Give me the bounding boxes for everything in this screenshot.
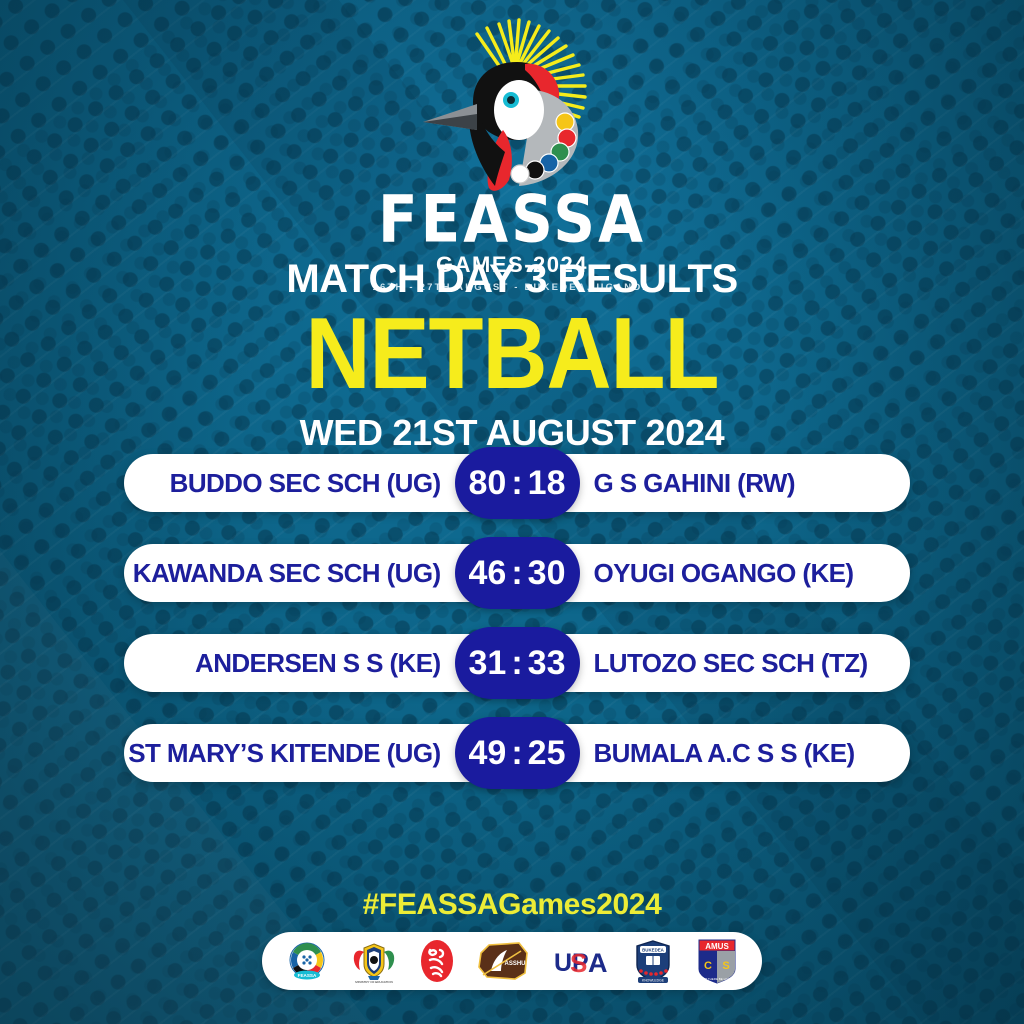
svg-text:S: S	[570, 948, 587, 978]
headings-block: MATCH DAY 3 RESULTS NETBALL WED 21ST AUG…	[0, 258, 1024, 454]
sport-title: NETBALL	[0, 304, 1024, 405]
score-badge: 46 : 30	[455, 537, 580, 609]
score-badge: 49 : 25	[455, 717, 580, 789]
home-score: 80	[469, 464, 507, 503]
sponsor-logo-bar: FEASSA MINISTRY OF EDUCATION	[262, 932, 762, 990]
svg-text:KNOWLEDGE: KNOWLEDGE	[642, 978, 665, 982]
away-score: 18	[528, 464, 566, 503]
score-badge: 80 : 18	[455, 447, 580, 519]
match-row: ANDERSEN S S (KE) 31 : 33 LUTOZO SEC SCH…	[124, 634, 910, 692]
uganda-moes-logo: MINISTRY OF EDUCATION	[348, 938, 400, 984]
home-team-name: ANDERSEN S S (KE)	[124, 648, 455, 679]
score-badge: 31 : 33	[455, 627, 580, 699]
away-score: 33	[528, 644, 566, 683]
feassa-logo-block: FEASSA GAMES-2024 16TH - 27TH AUGUST - B…	[0, 18, 1024, 293]
score-separator: :	[506, 734, 527, 773]
match-results-list: BUDDO SEC SCH (UG) 80 : 18 G S GAHINI (R…	[124, 454, 910, 814]
home-team-name: ST MARY’S KITENDE (UG)	[124, 738, 455, 769]
svg-text:MINISTRY OF EDUCATION: MINISTRY OF EDUCATION	[355, 980, 393, 984]
bukedea-logo: BUKEDEA KNOWLEDGE	[630, 937, 676, 985]
svg-text:C: C	[704, 960, 712, 972]
svg-text:A: A	[588, 948, 608, 978]
score-separator: :	[506, 554, 527, 593]
home-score: 49	[469, 734, 507, 773]
svg-text:FEASSA: FEASSA	[298, 973, 317, 978]
away-score: 25	[528, 734, 566, 773]
amus-logo: AMUS C S LET THERE BE LIGHT	[695, 937, 739, 985]
home-score: 46	[469, 554, 507, 593]
poster-content: FEASSA GAMES-2024 16TH - 27TH AUGUST - B…	[0, 0, 1024, 1024]
poster-canvas: FEASSA GAMES-2024 16TH - 27TH AUGUST - B…	[0, 0, 1024, 1024]
feassa-wordmark: FEASSA	[378, 189, 646, 251]
score-separator: :	[506, 464, 527, 503]
svg-text:AMUS: AMUS	[705, 942, 729, 951]
away-score: 30	[528, 554, 566, 593]
away-team-name: BUMALA A.C S S (KE)	[580, 738, 911, 769]
away-team-name: OYUGI OGANGO (KE)	[580, 558, 911, 589]
feassa-logo: FEASSA	[285, 939, 329, 983]
event-hashtag: #FEASSAGames2024	[0, 888, 1024, 922]
home-team-name: BUDDO SEC SCH (UG)	[124, 468, 455, 499]
away-team-name: G S GAHINI (RW)	[580, 468, 911, 499]
away-team-name: LUTOZO SEC SCH (TZ)	[580, 648, 911, 679]
home-score: 31	[469, 644, 507, 683]
match-day-title: MATCH DAY 3 RESULTS	[0, 258, 1024, 300]
asshu-logo: ASSHU	[475, 939, 531, 983]
ussa-logo	[418, 938, 456, 984]
svg-text:ASSHU: ASSHU	[504, 961, 525, 967]
crowned-crane-icon	[407, 18, 617, 198]
svg-text:S: S	[722, 960, 729, 972]
score-separator: :	[506, 644, 527, 683]
svg-text:BUKEDEA: BUKEDEA	[642, 948, 665, 953]
match-row: ST MARY’S KITENDE (UG) 49 : 25 BUMALA A.…	[124, 724, 910, 782]
uspa-logo: U P S A	[550, 941, 612, 981]
svg-text:LET THERE BE LIGHT: LET THERE BE LIGHT	[701, 977, 732, 981]
match-row: BUDDO SEC SCH (UG) 80 : 18 G S GAHINI (R…	[124, 454, 910, 512]
match-row: KAWANDA SEC SCH (UG) 46 : 30 OYUGI OGANG…	[124, 544, 910, 602]
home-team-name: KAWANDA SEC SCH (UG)	[124, 558, 455, 589]
